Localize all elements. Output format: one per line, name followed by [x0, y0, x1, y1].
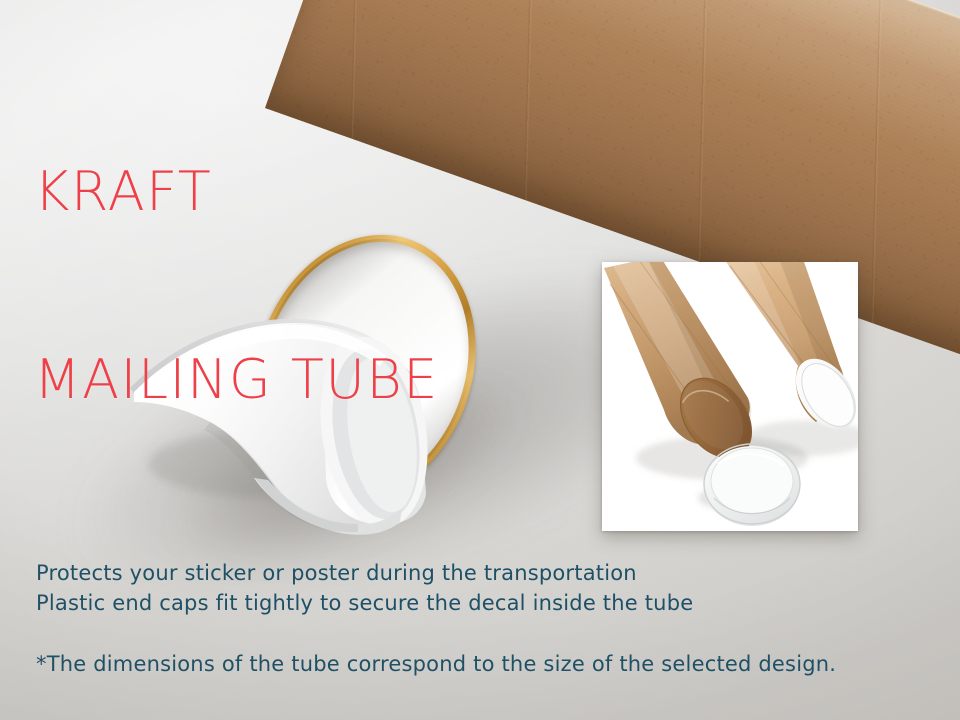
feature-line-1: Protects your sticker or poster during t…	[36, 558, 693, 588]
title-line-2: MAILING TUBE	[34, 349, 439, 412]
product-banner: KRAFT MAILING TUBE Protects your sticker…	[0, 0, 960, 720]
feature-line-2: Plastic end caps fit tightly to secure t…	[36, 588, 693, 618]
inset-photo-artwork	[602, 262, 858, 531]
inset-product-photo[interactable]	[602, 262, 858, 531]
feature-description: Protects your sticker or poster during t…	[36, 558, 693, 619]
loose-end-cap	[704, 444, 800, 526]
title-line-1: KRAFT	[34, 161, 439, 224]
footnote-text: *The dimensions of the tube correspond t…	[36, 652, 836, 676]
page-title: KRAFT MAILING TUBE	[34, 36, 439, 537]
